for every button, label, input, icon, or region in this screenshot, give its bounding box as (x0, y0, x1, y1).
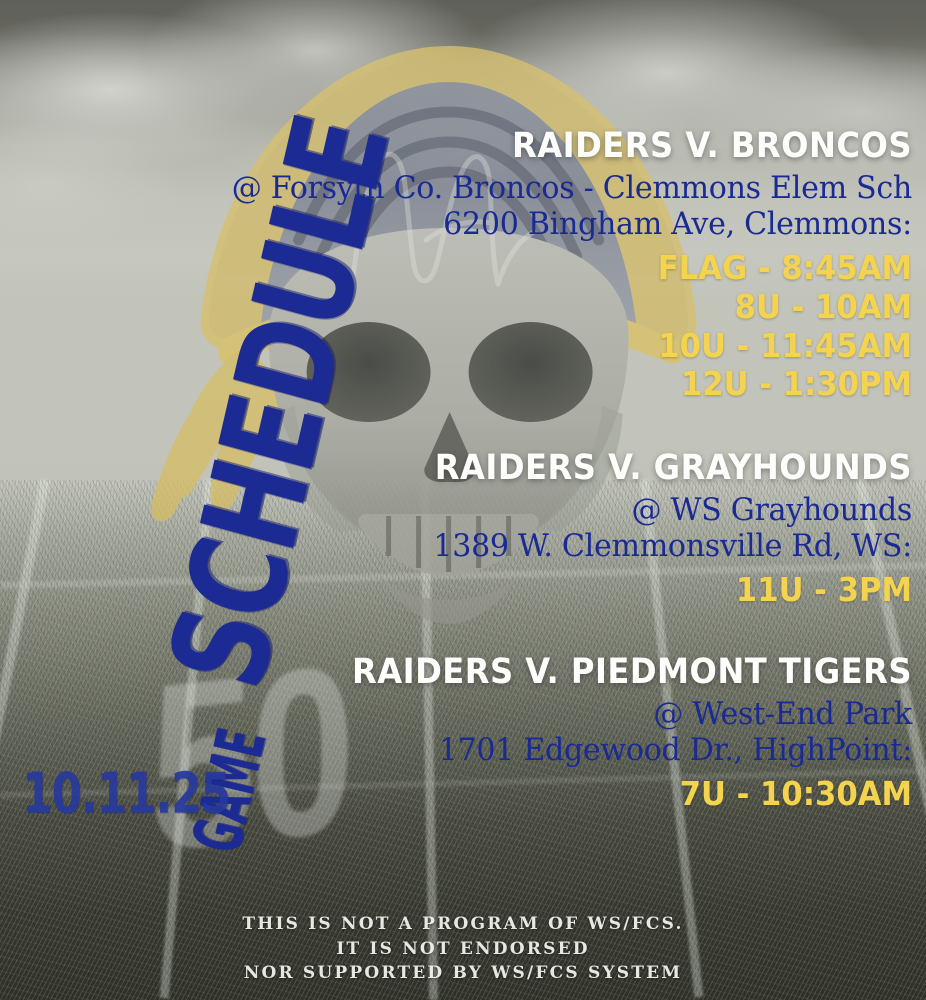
section-gap (82, 610, 912, 654)
section-gap (82, 404, 912, 450)
game-location-line-2: 1701 Edgewood Dr., HighPoint: (107, 732, 912, 768)
game-block-grayhounds: RAIDERS V. GRAYHOUNDS @ WS Grayhounds 13… (82, 450, 912, 610)
disclaimer-line-3: NOR SUPPORTED BY WS/FCS SYSTEM (0, 961, 926, 986)
disclaimer-line-1: THIS IS NOT A PROGRAM OF WS/FCS. (0, 912, 926, 937)
game-block-broncos: RAIDERS V. BRONCOS @ Forsyth Co. Broncos… (82, 128, 912, 404)
game-time-row: 8U - 10AM (140, 288, 912, 327)
game-location-line-1: @ Forsyth Co. Broncos - Clemmons Elem Sc… (107, 166, 912, 206)
disclaimer-line-2: IT IS NOT ENDORSED (0, 937, 926, 962)
game-title: RAIDERS V. GRAYHOUNDS (148, 450, 912, 488)
game-time-row: 11U - 3PM (140, 571, 912, 610)
game-times: 7U - 10:30AM (82, 775, 912, 814)
schedule-list: RAIDERS V. BRONCOS @ Forsyth Co. Broncos… (82, 128, 912, 814)
game-time-row: 7U - 10:30AM (140, 775, 912, 814)
game-block-piedmont-tigers: RAIDERS V. PIEDMONT TIGERS @ West-End Pa… (82, 654, 912, 814)
game-location-line-1: @ WS Grayhounds (107, 488, 912, 528)
game-title: RAIDERS V. PIEDMONT TIGERS (148, 654, 912, 692)
game-times: 11U - 3PM (82, 571, 912, 610)
game-time-row: 10U - 11:45AM (140, 327, 912, 366)
game-time-row: 12U - 1:30PM (140, 365, 912, 404)
game-schedule-poster: 50 (0, 0, 926, 1000)
game-time-row: FLAG - 8:45AM (140, 249, 912, 288)
disclaimer-text: THIS IS NOT A PROGRAM OF WS/FCS. IT IS N… (0, 912, 926, 986)
game-location-line-2: 1389 W. Clemmonsville Rd, WS: (107, 528, 912, 564)
game-location-line-1: @ West-End Park (107, 692, 912, 732)
game-times: FLAG - 8:45AM 8U - 10AM 10U - 11:45AM 12… (82, 249, 912, 403)
game-title: RAIDERS V. BRONCOS (148, 128, 912, 166)
game-location-line-2: 6200 Bingham Ave, Clemmons: (107, 206, 912, 242)
